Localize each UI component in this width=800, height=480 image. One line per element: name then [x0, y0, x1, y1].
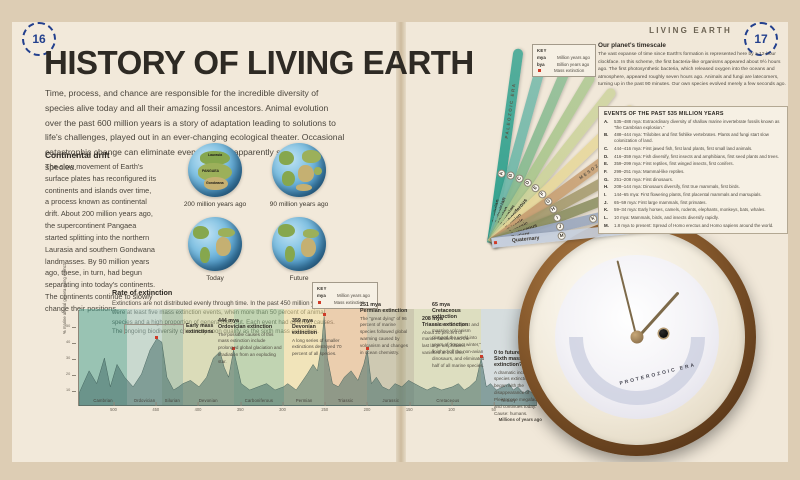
- globe-caption: 200 million years ago: [176, 201, 254, 208]
- event-text: 65–59 mya: First large mammals, first pr…: [614, 200, 707, 206]
- event-item: K.59–34 mya: Early horses, camels, roden…: [604, 207, 782, 213]
- key-row: mya Million years ago: [537, 55, 591, 60]
- event-letter: G.: [604, 177, 611, 183]
- globe-grid: Laurasia PANGAEA Gondwana 200 million ye…: [176, 143, 340, 285]
- y-axis-title: % marine animal genera going extinct: [62, 264, 67, 334]
- mass-extinction-marker: [155, 336, 158, 339]
- callout-ordovician: 444 mya Ordovician extinction The possib…: [218, 318, 284, 366]
- key-label: Million years ago: [557, 55, 590, 60]
- bottom-margin: [0, 462, 800, 480]
- event-text: 416–359 mya: Fish diversify, first insec…: [614, 154, 779, 160]
- event-text: 1.8 mya to present: Spread of Homo erect…: [614, 223, 773, 229]
- clock-hand-minute: [616, 260, 638, 338]
- key-abbr: bya: [537, 62, 553, 67]
- timescale-body: The vast expanse of time since Earth's f…: [598, 51, 788, 89]
- callout-text: The possible causes of this mass extinct…: [218, 332, 284, 366]
- x-tick-label: 400: [195, 407, 202, 412]
- right-margin: [788, 0, 800, 480]
- clock-bezel: PROTEROZOIC ERA: [529, 229, 745, 445]
- wedge-era-label: PALEOZOIC ERA: [504, 82, 517, 139]
- clock-face: PROTEROZOIC ERA: [555, 255, 719, 419]
- globe-caption: 90 million years ago: [260, 201, 338, 208]
- event-bullet-M[interactable]: M: [557, 231, 566, 240]
- clock-hub: [631, 331, 644, 344]
- event-letter: H.: [604, 184, 611, 190]
- event-item: L.10 mya: Mammals, birds, and insects di…: [604, 215, 782, 221]
- event-item: E.359–299 mya: First reptiles, first win…: [604, 161, 782, 167]
- clock-case: PROTEROZOIC ERA: [518, 218, 756, 456]
- event-letter: J.: [604, 200, 611, 206]
- period-name: Silurian: [162, 398, 183, 403]
- globe-200mya: Laurasia PANGAEA Gondwana: [188, 143, 242, 197]
- event-item: C.444–416 mya: First jawed fish, first l…: [604, 146, 782, 152]
- event-bullet-K[interactable]: K: [588, 214, 598, 224]
- event-letter: A.: [604, 119, 611, 131]
- event-letter: M.: [604, 223, 611, 229]
- event-letter: L.: [604, 215, 611, 221]
- event-item: M.1.8 mya to present: Spread of Homo ere…: [604, 223, 782, 229]
- event-text: 299–251 mya: Mammal-like reptiles.: [614, 169, 685, 175]
- y-tick-label: 40: [66, 340, 70, 344]
- event-letter: K.: [604, 207, 611, 213]
- globe-today: [188, 217, 242, 271]
- x-tick-label: 350: [237, 407, 244, 412]
- event-letter: D.: [604, 154, 611, 160]
- globe-caption: Today: [176, 275, 254, 282]
- key-title: KEY: [537, 48, 591, 53]
- x-tick-label: 200: [364, 407, 371, 412]
- event-letter: C.: [604, 146, 611, 152]
- spread-page: 16 17 LIVING EARTH HISTORY OF LIVING EAR…: [0, 0, 800, 480]
- chart-key-label: Million years ago: [337, 293, 370, 298]
- event-text: 444–416 mya: First jawed fish, first lan…: [614, 146, 752, 152]
- x-tick-label: 250: [321, 407, 328, 412]
- event-item: J.65–59 mya: First large mammals, first …: [604, 200, 782, 206]
- globe-item: 90 million years ago: [260, 143, 338, 208]
- event-text: 535–488 mya: Extraordinary diversity of …: [614, 119, 782, 131]
- y-tick-label: 30: [66, 356, 70, 360]
- globe-item: Laurasia PANGAEA Gondwana 200 million ye…: [176, 143, 254, 208]
- period-name: Devonian: [183, 398, 234, 403]
- globe-item: Future: [260, 217, 338, 282]
- event-text: 208–144 mya: Dinosaurs diversify, first …: [614, 184, 740, 190]
- y-tick-label: 20: [66, 372, 70, 376]
- continental-drift-title: Continental drift: [45, 150, 110, 160]
- key-abbr: mya: [537, 55, 553, 60]
- event-text: 10 mya: Mammals, birds, and insects dive…: [614, 215, 719, 221]
- clock-winder-icon: [659, 329, 668, 338]
- y-tick-label: 10: [66, 388, 70, 392]
- event-item: D.416–359 mya: Fish diversify, first ins…: [604, 154, 782, 160]
- callout-name: Ordovician extinction: [218, 324, 284, 330]
- globe-item: Today: [176, 217, 254, 282]
- x-tick-label: 300: [279, 407, 286, 412]
- wedge-extinction-dot-icon: [494, 241, 497, 244]
- chart-key-row: mya Million years ago: [317, 293, 373, 298]
- event-item: B.488–444 mya: Trilobites and first fish…: [604, 132, 782, 144]
- main-key: KEY mya Million years ago bya Billion ye…: [532, 44, 596, 77]
- key-row: Mass extinction: [537, 68, 591, 73]
- period-name: Triassic: [324, 398, 367, 403]
- clock-hand-hour: [636, 291, 680, 339]
- mass-extinction-marker: [323, 313, 326, 316]
- top-margin: [0, 0, 800, 22]
- event-item: G.251–208 mya: First dinosaurs.: [604, 177, 782, 183]
- event-item: H.208–144 mya: Dinosaurs diversify, firs…: [604, 184, 782, 190]
- wedge-label: Quaternary: [512, 235, 540, 244]
- mass-extinction-dot-icon: [538, 69, 541, 72]
- x-tick-label: 450: [152, 407, 159, 412]
- callout-name: Devonian extinction: [292, 324, 342, 336]
- early-mass-bracket: [124, 324, 184, 334]
- chart-key-abbr: mya: [317, 293, 333, 298]
- period-name: Cambrian: [79, 398, 127, 403]
- events-list: EVENTS OF THE PAST 535 MILLION YEARS A.5…: [598, 106, 788, 234]
- event-letter: I.: [604, 192, 611, 198]
- key-row: bya Billion years ago: [537, 62, 591, 67]
- globe-future: [272, 217, 326, 271]
- chart-key-title: KEY: [317, 286, 373, 291]
- events-title: EVENTS OF THE PAST 535 MILLION YEARS: [604, 111, 782, 117]
- key-label: Billion years ago: [557, 62, 589, 67]
- globe-caption: Future: [260, 275, 338, 282]
- key-label: Mass extinction: [554, 68, 584, 73]
- event-text: 488–444 mya: Trilobites and first fishli…: [614, 132, 782, 144]
- events-items: A.535–488 mya: Extraordinary diversity o…: [604, 119, 782, 229]
- period-name: Permian: [284, 398, 324, 403]
- event-text: 359–299 mya: First reptiles, first winge…: [614, 161, 734, 167]
- event-item: I.144–65 mya: First flowering plants, fi…: [604, 192, 782, 198]
- timescale-block: Our planet's timescale The vast expanse …: [598, 42, 788, 89]
- chart-title: Rate of extinction: [112, 288, 344, 297]
- mass-extinction-dot-icon: [318, 301, 321, 304]
- event-letter: F.: [604, 169, 611, 175]
- event-item: F.299–251 mya: Mammal-like reptiles.: [604, 169, 782, 175]
- event-item: A.535–488 mya: Extraordinary diversity o…: [604, 119, 782, 131]
- left-margin: [0, 0, 12, 480]
- x-tick-label: 500: [110, 407, 117, 412]
- event-letter: B.: [604, 132, 611, 144]
- globe-90mya: [272, 143, 326, 197]
- timescale-title: Our planet's timescale: [598, 42, 788, 49]
- callout-text: A long series of smaller extinctions des…: [292, 338, 342, 359]
- event-text: 144–65 mya: First flowering plants, firs…: [614, 192, 762, 198]
- callout-devonian: 359 mya Devonian extinction A long serie…: [292, 318, 342, 358]
- event-text: 59–34 mya: Early horses, camels, rodents…: [614, 207, 766, 213]
- event-letter: E.: [604, 161, 611, 167]
- event-text: 251–208 mya: First dinosaurs.: [614, 177, 673, 183]
